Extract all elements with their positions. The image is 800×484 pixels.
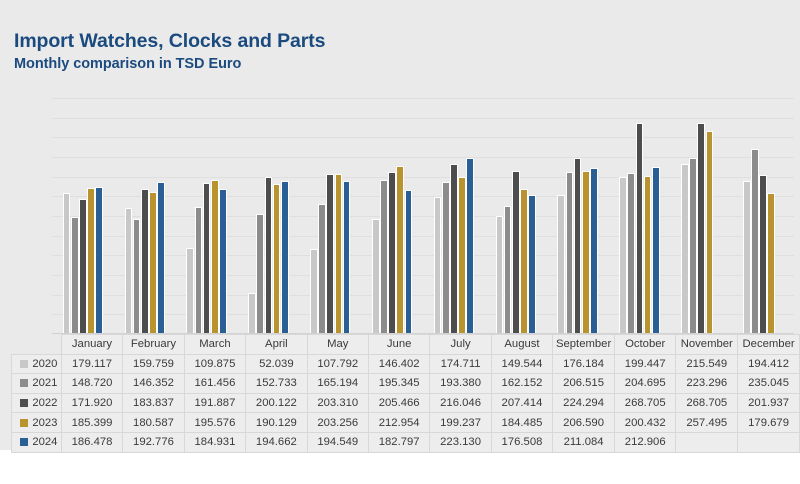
cell-2024-june: 182.797 bbox=[368, 432, 429, 452]
bar-2021-december bbox=[751, 149, 759, 334]
cell-2023-february: 180.587 bbox=[123, 413, 185, 433]
cell-2024-september: 211.084 bbox=[553, 432, 615, 452]
bar-2024-january bbox=[95, 187, 103, 334]
cell-2021-september: 206.515 bbox=[553, 374, 615, 394]
cell-2020-october: 199.447 bbox=[615, 354, 676, 374]
cell-2022-november: 268.705 bbox=[676, 393, 738, 413]
cell-2022-october: 268.705 bbox=[615, 393, 676, 413]
legend-entry-2021: 2021 bbox=[12, 374, 62, 394]
cell-2020-july: 174.711 bbox=[430, 354, 491, 374]
table-head: JanuaryFebruaryMarchAprilMayJuneJulyAugu… bbox=[12, 335, 800, 355]
legend-entry-2020: 2020 bbox=[12, 354, 62, 374]
bar-2022-may bbox=[326, 174, 334, 334]
table-row: 2024186.478192.776184.931194.662194.5491… bbox=[12, 432, 800, 452]
cell-2024-january: 186.478 bbox=[61, 432, 122, 452]
bar-2024-may bbox=[343, 181, 351, 334]
cell-2021-august: 162.152 bbox=[491, 374, 552, 394]
bar-2020-february bbox=[125, 208, 133, 334]
bar-2021-august bbox=[504, 206, 512, 334]
legend-label: 2020 bbox=[32, 358, 57, 370]
bar-2020-april bbox=[248, 293, 256, 334]
bar-2023-april bbox=[273, 184, 281, 334]
cell-2022-july: 216.046 bbox=[430, 393, 491, 413]
month-group bbox=[670, 98, 732, 334]
bar-2022-october bbox=[636, 123, 644, 334]
bar-2021-february bbox=[133, 219, 141, 334]
month-group bbox=[299, 98, 361, 334]
cell-2020-september: 176.184 bbox=[553, 354, 615, 374]
legend-entry-2024: 2024 bbox=[12, 432, 62, 452]
bar-2022-december bbox=[759, 175, 767, 334]
bar-2021-march bbox=[195, 207, 203, 334]
column-header-january: January bbox=[61, 335, 122, 355]
bar-2023-may bbox=[335, 174, 343, 334]
bar-2021-november bbox=[689, 158, 697, 334]
bar-2021-july bbox=[442, 182, 450, 334]
month-group bbox=[176, 98, 238, 334]
cell-2021-november: 223.296 bbox=[676, 374, 738, 394]
cell-2024-april: 194.662 bbox=[246, 432, 307, 452]
table-body: 2020179.117159.759109.87552.039107.79214… bbox=[12, 354, 800, 452]
cell-2023-august: 184.485 bbox=[491, 413, 552, 433]
bar-2023-february bbox=[149, 192, 157, 334]
bar-2024-september bbox=[590, 168, 598, 334]
cell-2023-may: 203.256 bbox=[307, 413, 368, 433]
column-header-march: March bbox=[184, 335, 245, 355]
cell-2021-january: 148.720 bbox=[61, 374, 122, 394]
month-group bbox=[547, 98, 609, 334]
cell-2023-march: 195.576 bbox=[184, 413, 245, 433]
cell-2022-may: 203.310 bbox=[307, 393, 368, 413]
bar-2021-may bbox=[318, 204, 326, 334]
chart-page: Import Watches, Clocks and Parts Monthly… bbox=[0, 0, 800, 484]
cell-2020-february: 159.759 bbox=[123, 354, 185, 374]
column-header-july: July bbox=[430, 335, 491, 355]
cell-2023-july: 199.237 bbox=[430, 413, 491, 433]
bar-2024-august bbox=[528, 195, 536, 334]
column-header-april: April bbox=[246, 335, 307, 355]
bar-2021-october bbox=[627, 173, 635, 334]
bar-2021-june bbox=[380, 180, 388, 334]
bar-2022-june bbox=[388, 172, 396, 334]
bar-2023-june bbox=[396, 166, 404, 334]
cell-2020-march: 109.875 bbox=[184, 354, 245, 374]
bar-2023-november bbox=[706, 131, 714, 334]
cell-2021-february: 146.352 bbox=[123, 374, 185, 394]
bar-2020-june bbox=[372, 219, 380, 334]
cell-2024-may: 194.549 bbox=[307, 432, 368, 452]
legend-swatch-icon bbox=[20, 379, 28, 387]
data-table: JanuaryFebruaryMarchAprilMayJuneJulyAugu… bbox=[11, 334, 800, 453]
bar-2021-january bbox=[71, 217, 79, 334]
bar-2024-february bbox=[157, 182, 165, 334]
cell-2022-april: 200.122 bbox=[246, 393, 307, 413]
bar-2023-july bbox=[458, 177, 466, 334]
bar-2024-june bbox=[405, 190, 413, 334]
cell-2022-february: 183.837 bbox=[123, 393, 185, 413]
cell-2024-december bbox=[738, 432, 800, 452]
cell-2022-september: 224.294 bbox=[553, 393, 615, 413]
bar-2024-october bbox=[652, 167, 660, 334]
cell-2023-january: 185.399 bbox=[61, 413, 122, 433]
bar-2024-july bbox=[466, 158, 474, 334]
cell-2020-april: 52.039 bbox=[246, 354, 307, 374]
bar-2022-july bbox=[450, 164, 458, 334]
bar-2020-may bbox=[310, 249, 318, 334]
month-group bbox=[238, 98, 300, 334]
cell-2022-march: 191.887 bbox=[184, 393, 245, 413]
cell-2022-january: 171.920 bbox=[61, 393, 122, 413]
month-group bbox=[114, 98, 176, 334]
cell-2020-may: 107.792 bbox=[307, 354, 368, 374]
cell-2022-june: 205.466 bbox=[368, 393, 429, 413]
bar-2020-september bbox=[557, 195, 565, 334]
bar-2021-april bbox=[256, 214, 264, 334]
cell-2023-november: 257.495 bbox=[676, 413, 738, 433]
month-group bbox=[609, 98, 671, 334]
legend-label: 2024 bbox=[32, 436, 57, 448]
legend-swatch-icon bbox=[20, 438, 28, 446]
cell-2021-october: 204.695 bbox=[615, 374, 676, 394]
chart-title: Import Watches, Clocks and Parts bbox=[14, 30, 714, 53]
table-corner-cell bbox=[12, 335, 62, 355]
cell-2020-november: 215.549 bbox=[676, 354, 738, 374]
bar-2022-august bbox=[512, 171, 520, 334]
month-group bbox=[732, 98, 794, 334]
legend-label: 2021 bbox=[32, 377, 57, 389]
cell-2023-june: 212.954 bbox=[368, 413, 429, 433]
cell-2021-march: 161.456 bbox=[184, 374, 245, 394]
cell-2020-december: 194.412 bbox=[738, 354, 800, 374]
column-header-august: August bbox=[491, 335, 552, 355]
legend-swatch-icon bbox=[20, 419, 28, 427]
cell-2024-november bbox=[676, 432, 738, 452]
bar-2020-august bbox=[496, 216, 504, 334]
bar-2020-october bbox=[619, 177, 627, 334]
legend-swatch-icon bbox=[20, 360, 28, 368]
legend-label: 2022 bbox=[32, 397, 57, 409]
month-group bbox=[423, 98, 485, 334]
bar-2022-april bbox=[265, 177, 273, 334]
column-header-december: December bbox=[738, 335, 800, 355]
cell-2024-august: 176.508 bbox=[491, 432, 552, 452]
month-group bbox=[485, 98, 547, 334]
legend-swatch-icon bbox=[20, 399, 28, 407]
table-row: 2021148.720146.352161.456152.733165.1941… bbox=[12, 374, 800, 394]
bar-2023-august bbox=[520, 189, 528, 334]
bar-2024-march bbox=[219, 189, 227, 334]
cell-2022-december: 201.937 bbox=[738, 393, 800, 413]
month-group bbox=[52, 98, 114, 334]
cell-2022-august: 207.414 bbox=[491, 393, 552, 413]
cell-2021-april: 152.733 bbox=[246, 374, 307, 394]
bar-2023-december bbox=[767, 193, 775, 334]
cell-2023-december: 179.679 bbox=[738, 413, 800, 433]
cell-2023-october: 200.432 bbox=[615, 413, 676, 433]
column-header-may: May bbox=[307, 335, 368, 355]
legend-entry-2023: 2023 bbox=[12, 413, 62, 433]
chart-subtitle: Monthly comparison in TSD Euro bbox=[14, 56, 714, 73]
bar-2024-april bbox=[281, 181, 289, 334]
bar-2020-july bbox=[434, 197, 442, 334]
table-row: 2023185.399180.587195.576190.129203.2562… bbox=[12, 413, 800, 433]
bar-2023-january bbox=[87, 188, 95, 334]
column-header-november: November bbox=[676, 335, 738, 355]
bars-layer bbox=[52, 98, 794, 334]
bar-2023-march bbox=[211, 180, 219, 334]
month-group bbox=[361, 98, 423, 334]
cell-2023-april: 190.129 bbox=[246, 413, 307, 433]
bar-2022-september bbox=[574, 158, 582, 334]
chart-header: Import Watches, Clocks and Parts Monthly… bbox=[14, 30, 714, 73]
table-row: 2022171.920183.837191.887200.122203.3102… bbox=[12, 393, 800, 413]
cell-2021-december: 235.045 bbox=[738, 374, 800, 394]
bar-2022-january bbox=[79, 199, 87, 334]
cell-2024-july: 223.130 bbox=[430, 432, 491, 452]
bar-2022-february bbox=[141, 189, 149, 334]
bar-2023-october bbox=[644, 176, 652, 334]
cell-2020-january: 179.117 bbox=[61, 354, 122, 374]
cell-2024-october: 212.906 bbox=[615, 432, 676, 452]
cell-2024-february: 192.776 bbox=[123, 432, 185, 452]
bar-2021-september bbox=[566, 172, 574, 334]
legend-entry-2022: 2022 bbox=[12, 393, 62, 413]
column-header-october: October bbox=[615, 335, 676, 355]
cell-2021-june: 195.345 bbox=[368, 374, 429, 394]
bar-2023-september bbox=[582, 171, 590, 334]
cell-2023-september: 206.590 bbox=[553, 413, 615, 433]
cell-2021-may: 165.194 bbox=[307, 374, 368, 394]
cell-2020-june: 146.402 bbox=[368, 354, 429, 374]
cell-2020-august: 149.544 bbox=[491, 354, 552, 374]
table-row: 2020179.117159.759109.87552.039107.79214… bbox=[12, 354, 800, 374]
bar-2020-january bbox=[63, 193, 71, 334]
bar-2020-december bbox=[743, 181, 751, 334]
bar-2020-march bbox=[186, 248, 194, 334]
column-header-september: September bbox=[553, 335, 615, 355]
cell-2024-march: 184.931 bbox=[184, 432, 245, 452]
column-header-june: June bbox=[368, 335, 429, 355]
cell-2021-july: 193.380 bbox=[430, 374, 491, 394]
plot-area bbox=[52, 98, 794, 334]
table-header-row: JanuaryFebruaryMarchAprilMayJuneJulyAugu… bbox=[12, 335, 800, 355]
bar-2022-march bbox=[203, 183, 211, 334]
column-header-february: February bbox=[123, 335, 185, 355]
bar-2020-november bbox=[681, 164, 689, 334]
legend-label: 2023 bbox=[32, 417, 57, 429]
bar-2022-november bbox=[697, 123, 705, 334]
